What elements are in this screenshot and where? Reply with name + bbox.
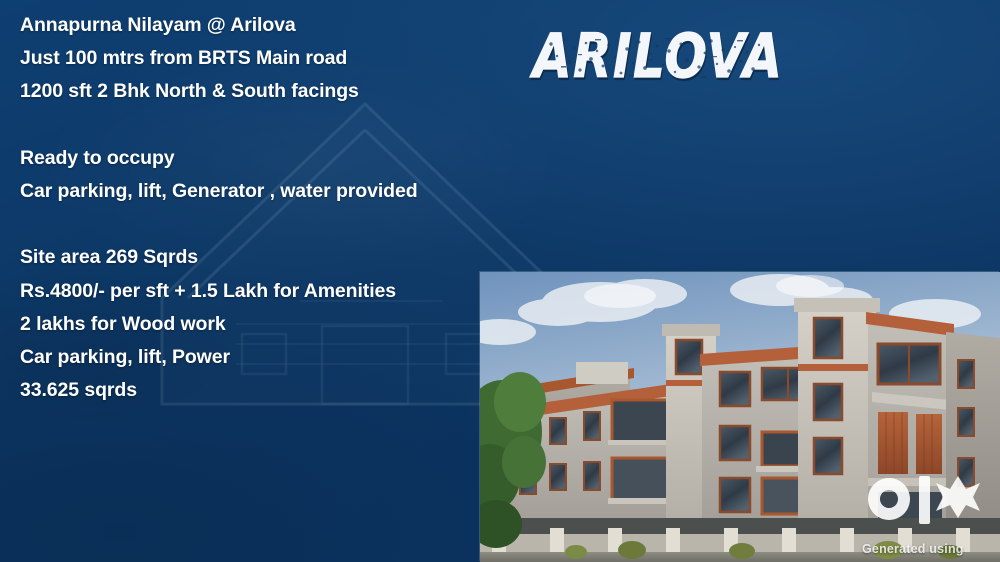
detail-line: Annapurna Nilayam @ Arilova (20, 9, 490, 42)
detail-line: 1200 sft 2 Bhk North & South facings (20, 75, 490, 108)
detail-line: Car parking, lift, Power (20, 341, 490, 374)
property-photo[interactable]: Generated using (480, 272, 1000, 562)
property-photo-image (480, 272, 1000, 562)
arilova-headline: ARILOVA (533, 18, 773, 88)
detail-spacer (20, 208, 490, 241)
detail-line: Just 100 mtrs from BRTS Main road (20, 42, 490, 75)
detail-line: Site area 269 Sqrds (20, 241, 490, 274)
detail-line: Car parking, lift, Generator , water pro… (20, 175, 490, 208)
detail-line: Ready to occupy (20, 142, 490, 175)
headline-text: ARILOVA (533, 18, 763, 97)
detail-line: 33.625 sqrds (20, 374, 490, 407)
detail-spacer (20, 109, 490, 142)
listing-details: Annapurna Nilayam @ Arilova Just 100 mtr… (20, 9, 490, 407)
detail-line: Rs.4800/- per sft + 1.5 Lakh for Ameniti… (20, 275, 490, 308)
property-listing-poster: Annapurna Nilayam @ Arilova Just 100 mtr… (0, 0, 1000, 562)
detail-line: 2 lakhs for Wood work (20, 308, 490, 341)
